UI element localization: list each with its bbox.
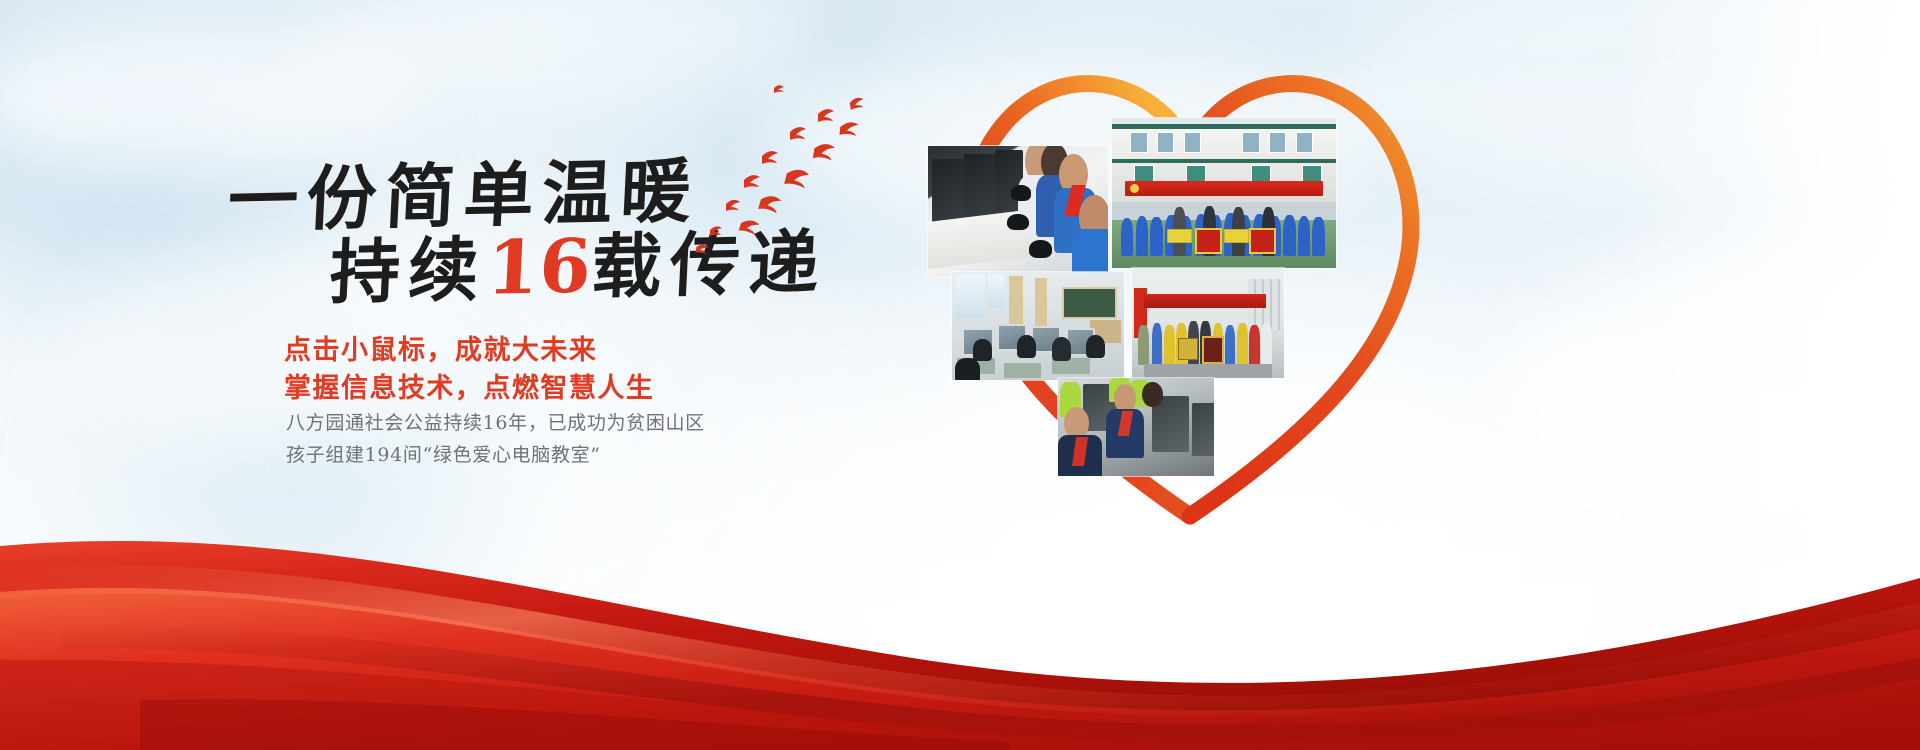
headline-prefix: 持续 (328, 228, 489, 314)
photo-donation-ceremony-indoor (1132, 268, 1284, 378)
photo-donation-ceremony-outdoor (1112, 118, 1336, 268)
photo-computer-classroom (952, 272, 1124, 380)
headline-year-number: 16 (485, 224, 594, 312)
hero-banner: 一份简单温暖 持续16载传递 点击小鼠标，成就大未来 掌握信息技术，点燃智慧人生… (0, 0, 1920, 750)
photo-students-at-computers (928, 146, 1108, 276)
ribbon-wave-shape (0, 450, 1920, 750)
red-silk-ribbon (0, 450, 1920, 750)
slogan-line-2: 掌握信息技术，点燃智慧人生 (284, 366, 654, 405)
description-line-1: 八方园通社会公益持续16年，已成功为贫困山区 (286, 408, 705, 435)
slogan-line-1: 点击小鼠标，成就大未来 (284, 328, 597, 367)
